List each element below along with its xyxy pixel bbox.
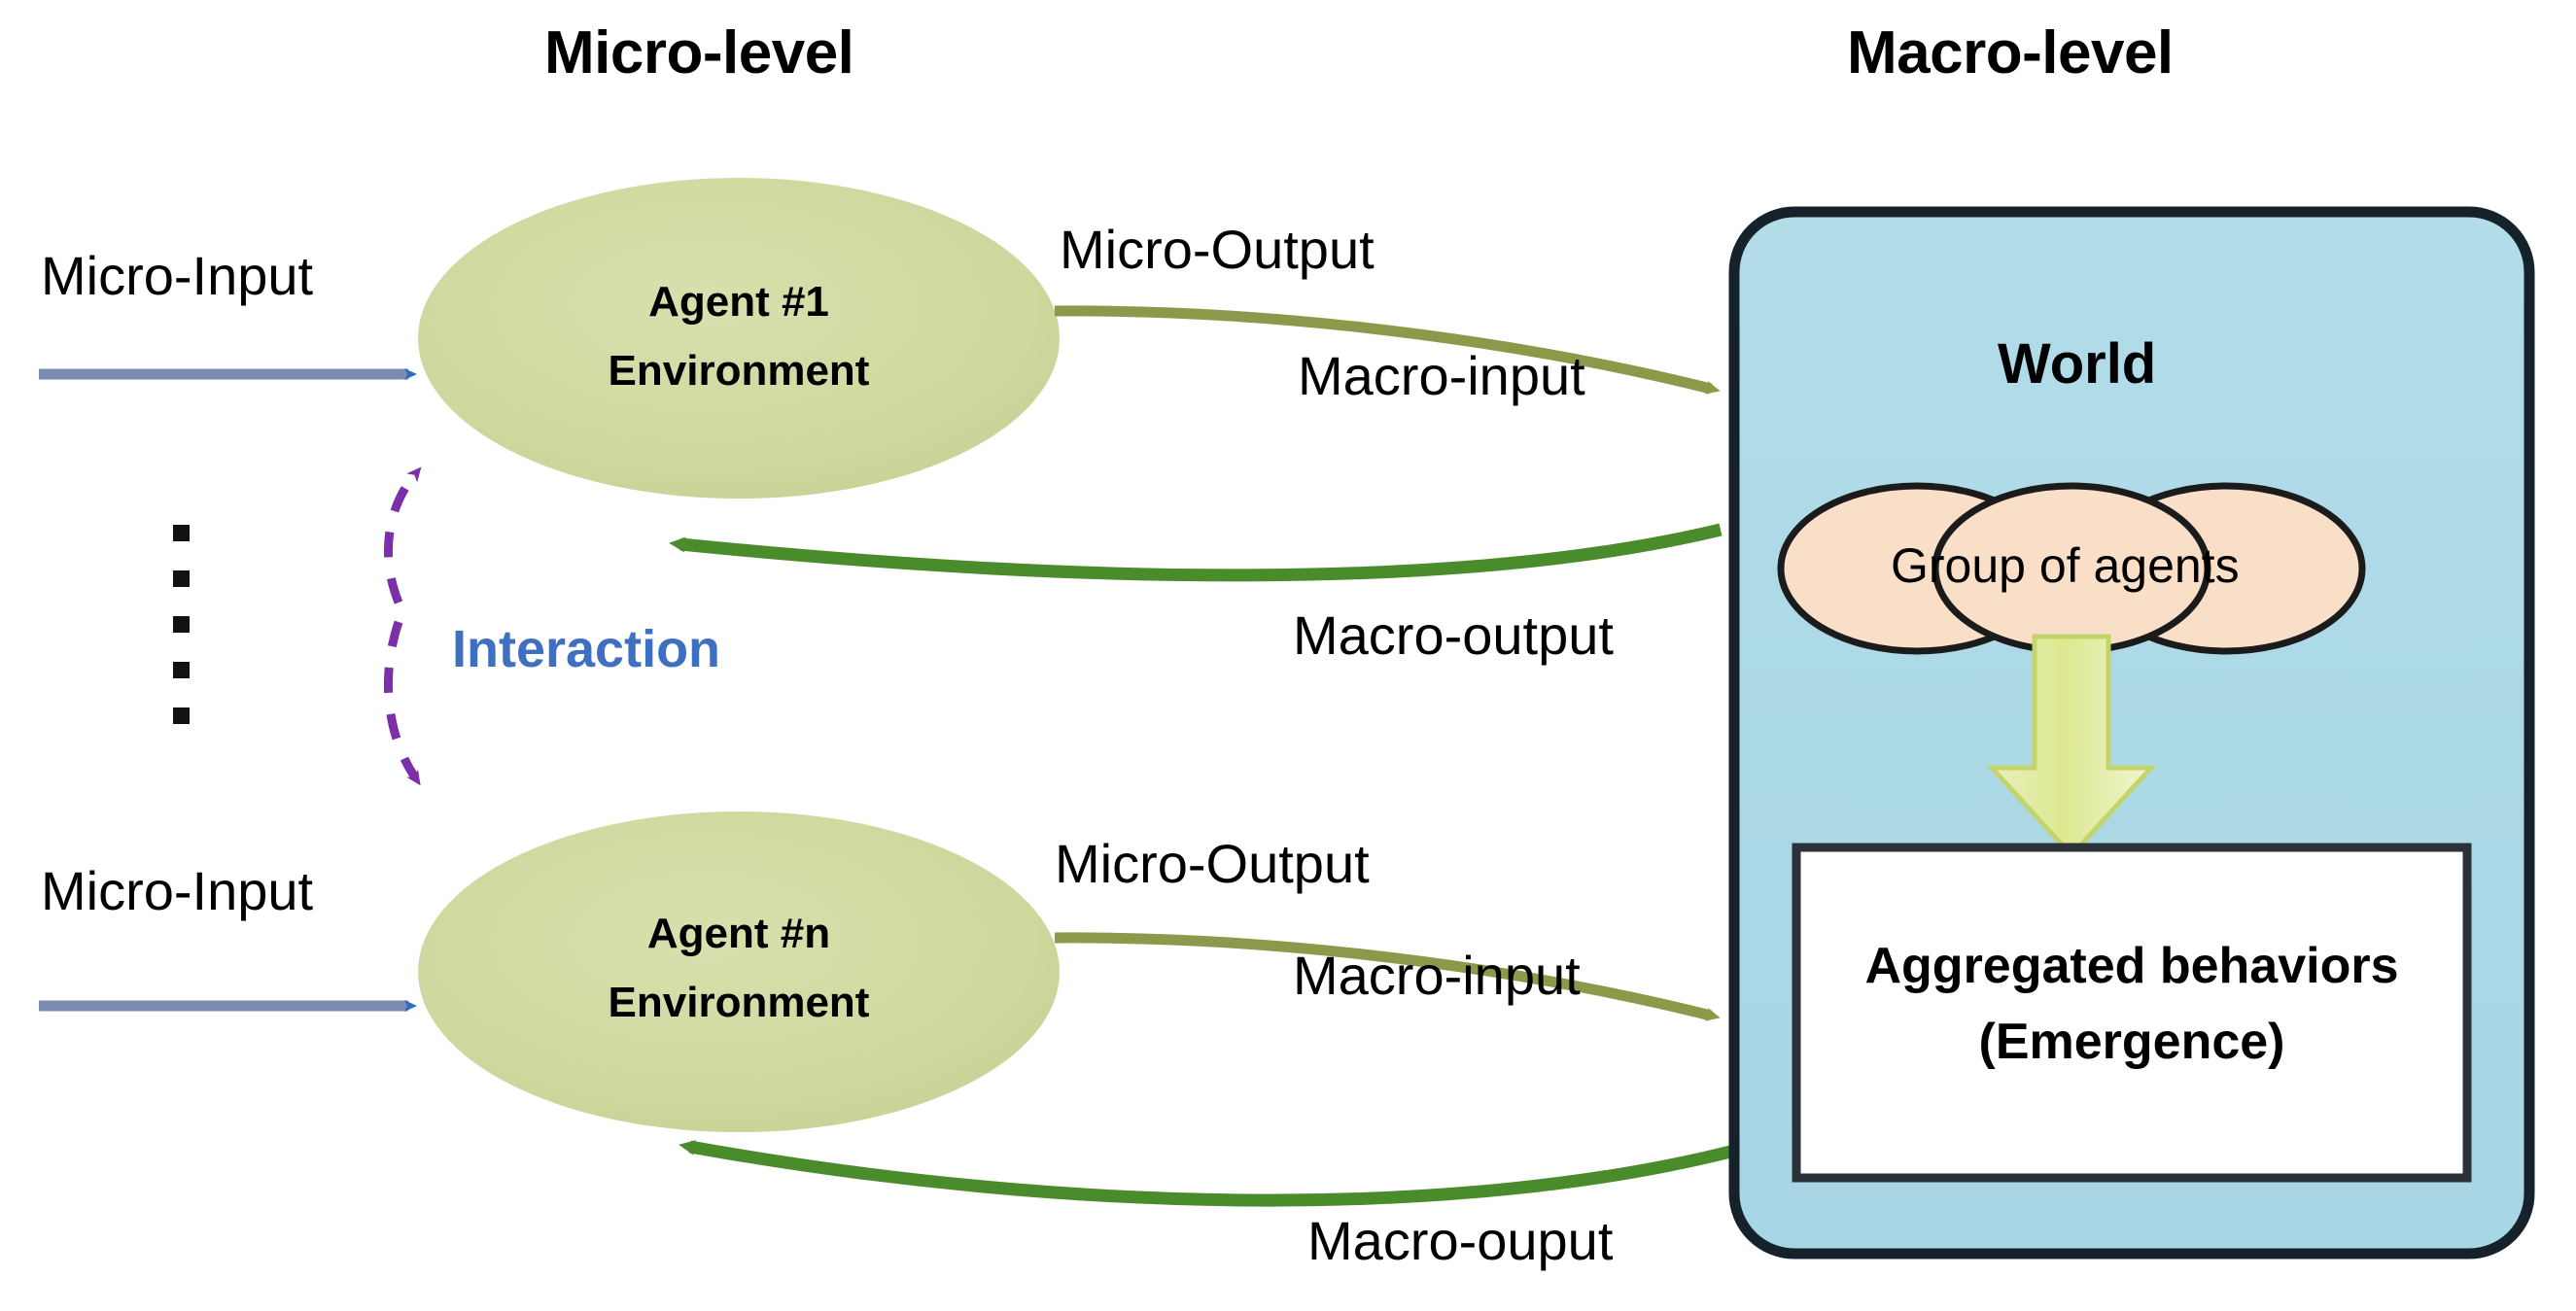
macro-output-arrow-bottom — [690, 1147, 1730, 1200]
macro-input-label-top: Macro-input — [1298, 348, 1585, 405]
macro-level-heading: Macro-level — [1847, 21, 2174, 85]
agent-n-name: Agent #n — [544, 899, 933, 968]
micro-input-label-bottom: Micro-Input — [41, 863, 313, 920]
interaction-arrow-up — [388, 474, 415, 603]
agent-1-name: Agent #1 — [544, 267, 933, 336]
aggregated-behaviors-line2: (Emergence) — [1806, 1004, 2457, 1080]
macro-output-label-top: Macro-output — [1293, 607, 1614, 665]
interaction-label: Interaction — [452, 622, 720, 677]
agent-1-label: Agent #1 Environment — [544, 267, 933, 406]
agent-1-sublabel: Environment — [544, 336, 933, 405]
macro-output-arrow-top — [680, 530, 1721, 575]
diagram-vector-layer — [0, 0, 2576, 1311]
aggregated-behaviors-label: Aggregated behaviors (Emergence) — [1806, 928, 2457, 1080]
world-title: World — [1998, 335, 2156, 395]
aggregated-behaviors-line1: Aggregated behaviors — [1806, 928, 2457, 1004]
micro-output-label-bottom: Micro-Output — [1055, 836, 1370, 893]
agent-n-sublabel: Environment — [544, 968, 933, 1037]
micro-level-heading: Micro-level — [544, 21, 853, 85]
group-of-agents-label: Group of agents — [1891, 540, 2240, 592]
micro-input-label-top: Micro-Input — [41, 248, 313, 305]
vertical-ellipsis-icon — [173, 525, 190, 724]
interaction-arrow-down — [388, 622, 415, 777]
macro-output-label-bottom: Macro-ouput — [1307, 1213, 1613, 1270]
micro-output-label-top: Micro-Output — [1060, 222, 1375, 279]
diagram-canvas: Micro-level Macro-level Micro-Input Micr… — [0, 0, 2576, 1311]
agent-n-label: Agent #n Environment — [544, 899, 933, 1038]
macro-input-label-bottom: Macro-input — [1293, 948, 1581, 1005]
